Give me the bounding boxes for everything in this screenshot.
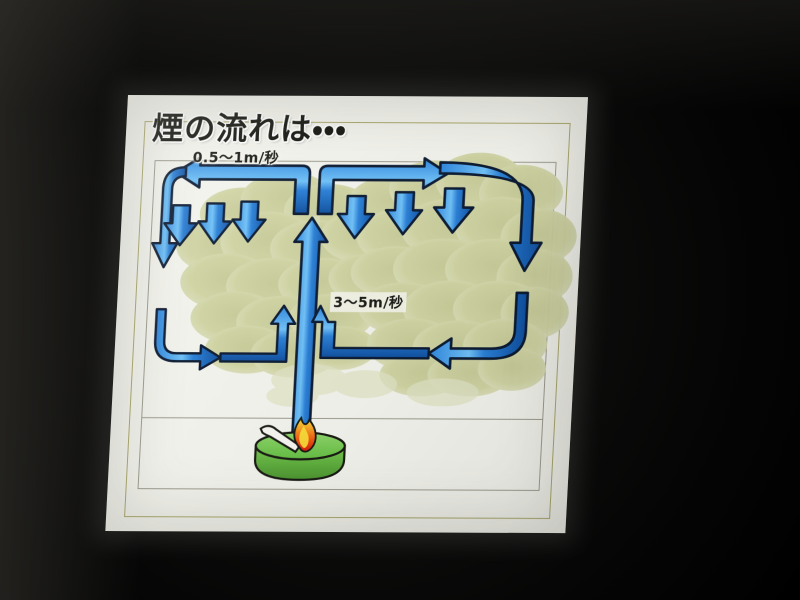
projected-slide: 煙の流れは・・・	[105, 95, 588, 533]
burner-layer	[105, 95, 588, 533]
photo-scene: 煙の流れは・・・	[0, 0, 800, 600]
projection-screen-area: 煙の流れは・・・	[0, 0, 800, 600]
